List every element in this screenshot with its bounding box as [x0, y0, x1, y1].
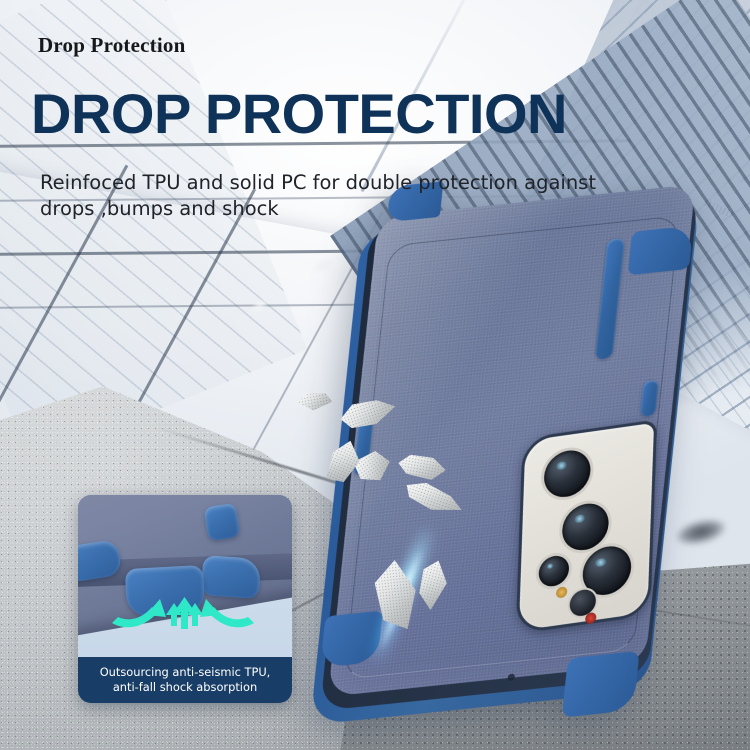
inset-illustration	[78, 495, 292, 657]
camera-lens-1	[543, 448, 591, 500]
inset-caption: Outsourcing anti-seismic TPU, anti-fall …	[78, 657, 292, 703]
camera-lens-2	[562, 501, 610, 553]
feature-inset-card: Outsourcing anti-seismic TPU, anti-fall …	[78, 495, 292, 703]
eyebrow-title: Drop Protection	[38, 33, 185, 58]
camera-lens-3	[538, 554, 569, 588]
camera-island	[516, 419, 658, 634]
product-banner: Drop Protection DROP PROTECTION Reinfoce…	[0, 0, 750, 750]
page-title: DROP PROTECTION	[31, 86, 567, 142]
camera-sensor-amber	[556, 586, 567, 599]
curved-arrow-right-icon	[200, 599, 254, 627]
camera-sensor-red	[585, 612, 596, 625]
case-bumper-top-right	[628, 225, 694, 275]
shock-absorption-arrows	[78, 495, 292, 657]
inset-caption-text: Outsourcing anti-seismic TPU, anti-fall …	[85, 665, 285, 695]
case-bumper-bottom-right	[562, 651, 640, 718]
curved-arrow-left-icon	[112, 599, 166, 627]
subtitle-text: Reinfoced TPU and solid PC for double pr…	[40, 170, 600, 221]
